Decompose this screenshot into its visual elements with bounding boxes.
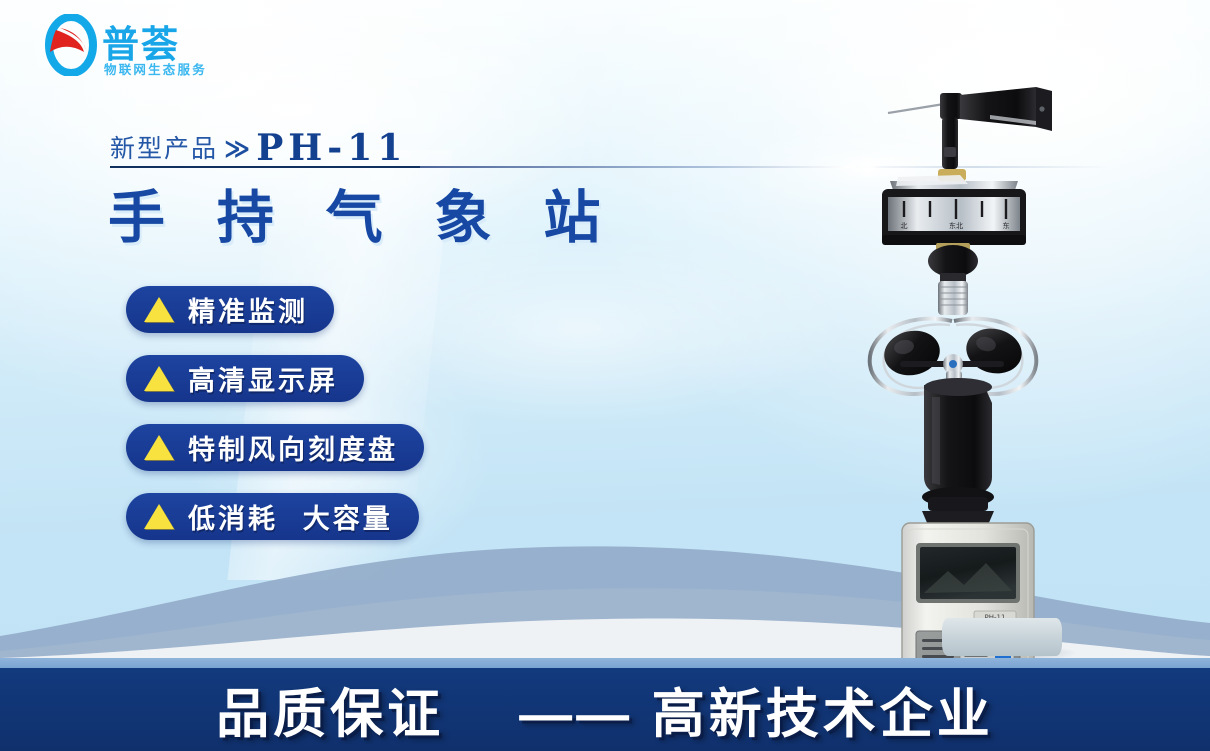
feature-pill-3[interactable]: 特制风向刻度盘: [126, 424, 424, 471]
product-model: PH-11: [256, 131, 407, 165]
footer-banner: 品质保证 —— 高新技术企业: [0, 668, 1210, 751]
feature-pill-1[interactable]: 精准监测: [126, 286, 334, 333]
svg-text:东: 东: [1003, 221, 1010, 230]
triangle-bullet-icon: [144, 435, 174, 460]
pu-hui-oval-logo-icon: [40, 14, 102, 76]
feature-pill-2[interactable]: 高清显示屏: [126, 355, 364, 402]
weather-station-device-icon: 北东北东: [840, 85, 1130, 660]
page-title: 手 持 气 象 站: [108, 172, 616, 254]
brand-tagline: 物联网生态服务: [104, 59, 207, 78]
brand-logo[interactable]: 普荟 物联网生态服务: [40, 12, 260, 82]
triangle-bullet-icon: [144, 366, 174, 391]
feature-label: 高清显示屏: [188, 359, 338, 398]
feature-label: 低消耗 大容量: [188, 497, 393, 536]
product-image: 北东北东: [840, 85, 1130, 660]
footer-accent-strip: [0, 658, 1210, 668]
footer-slogan: 品质保证 —— 高新技术企业: [216, 672, 994, 748]
kicker-underline: [110, 166, 420, 168]
triangle-bullet-icon: [144, 297, 174, 322]
chevron-right-double-icon: ≫: [224, 134, 250, 164]
product-kicker: 新型产品 ≫ PH-11: [110, 129, 407, 165]
feature-label: 特制风向刻度盘: [188, 428, 398, 467]
feature-label: 精准监测: [188, 290, 308, 329]
triangle-bullet-icon: [144, 504, 174, 529]
product-pedestal: [942, 618, 1062, 656]
svg-text:北: 北: [901, 222, 908, 230]
feature-list: 精准监测 高清显示屏 特制风向刻度盘 低消耗 大容量: [126, 286, 424, 540]
poster-canvas: 北东北东: [0, 0, 1210, 751]
svg-text:东北: 东北: [949, 221, 963, 230]
feature-pill-4[interactable]: 低消耗 大容量: [126, 493, 419, 540]
kicker-label: 新型产品: [110, 129, 218, 165]
